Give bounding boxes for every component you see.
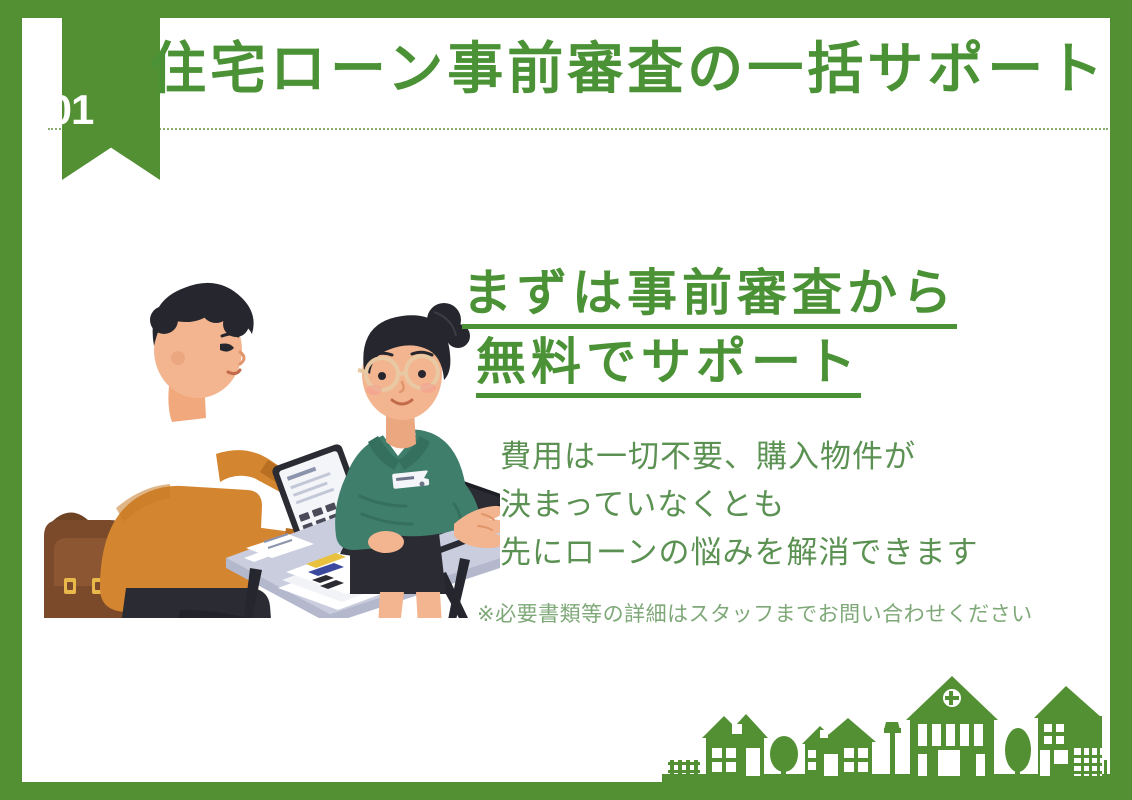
slide-canvas: 01 住宅ローン事前審査の一括サポート	[22, 18, 1110, 782]
body-line-1: 費用は一切不要、購入物件が	[500, 433, 1100, 481]
main-heading: まずは事前審査から 無料でサポート	[462, 268, 1062, 406]
slide-frame: 01 住宅ローン事前審査の一括サポート	[0, 0, 1132, 800]
loan-consultation-illustration	[30, 258, 500, 618]
footnote: ※必要書類等の詳細はスタッフまでお問い合わせください	[477, 598, 1110, 628]
section-number-label: 01	[22, 86, 120, 134]
house-skyline-illustration	[662, 662, 1110, 782]
main-heading-line-1: まずは事前審査から	[462, 268, 957, 329]
main-heading-line-2: 無料でサポート	[476, 337, 861, 398]
body-paragraph: 費用は一切不要、購入物件が 決まっていなくとも 先にローンの悩みを解消できます	[500, 433, 1100, 577]
body-line-2: 決まっていなくとも	[500, 481, 1100, 529]
header-dotted-rule	[48, 128, 1108, 130]
body-line-3: 先にローンの悩みを解消できます	[500, 529, 1100, 577]
page-title: 住宅ローン事前審査の一括サポート	[150, 38, 1100, 102]
